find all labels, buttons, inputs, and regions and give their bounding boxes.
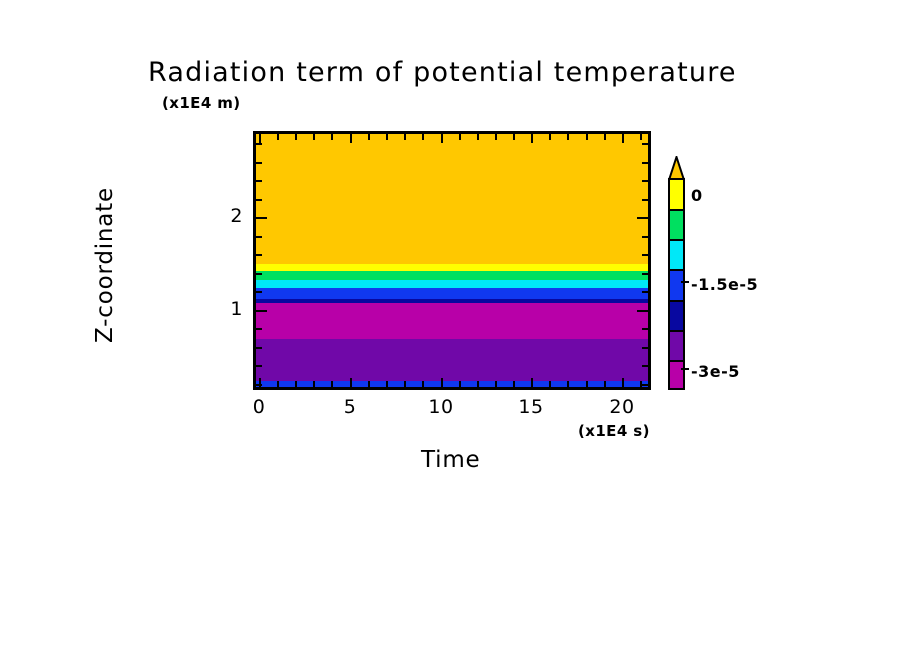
colorbar-divider-6 — [670, 360, 683, 362]
colorbar-tick-mark-1 — [681, 281, 689, 283]
y-axis-title: Z-coordinate — [92, 135, 118, 395]
y-tick-left-3 — [256, 199, 262, 201]
contour-band-green — [256, 271, 648, 280]
x-tick-bottom-5 — [350, 378, 352, 387]
y-tick-left-12 — [256, 365, 262, 367]
y-tick-label-1: 1 — [203, 298, 243, 320]
x-tick-bottom-3 — [313, 381, 315, 387]
x-tick-bottom-12 — [477, 381, 479, 387]
y-tick-left-7 — [256, 273, 262, 275]
x-tick-top-11 — [459, 134, 461, 140]
x-tick-bottom-14 — [513, 381, 515, 387]
y-tick-left-5 — [256, 236, 262, 238]
y-tick-label-2: 2 — [203, 205, 243, 227]
x-tick-bottom-20 — [622, 378, 624, 387]
x-tick-label-0: 0 — [229, 396, 289, 418]
figure-canvas: Radiation term of potential temperature … — [0, 0, 904, 654]
colorbar — [668, 178, 685, 390]
page-title: Radiation term of potential temperature — [148, 57, 737, 88]
contour-band-top-gold — [256, 134, 648, 264]
y-tick-right-11 — [642, 347, 648, 349]
y-tick-right-13 — [642, 384, 648, 386]
x-tick-bottom-18 — [586, 381, 588, 387]
x-tick-label-10: 10 — [411, 396, 471, 418]
contour-band-blue — [256, 288, 648, 299]
x-tick-top-21 — [640, 134, 642, 140]
colorbar-segment-navy — [670, 301, 683, 331]
colorbar-segment-cyan — [670, 240, 683, 270]
colorbar-divider-3 — [670, 269, 683, 271]
colorbar-divider-1 — [670, 209, 683, 211]
colorbar-tick-label-0: 0 — [691, 186, 703, 205]
x-tick-bottom-15 — [531, 378, 533, 387]
x-axis-title: Time — [421, 447, 481, 473]
x-tick-bottom-16 — [549, 381, 551, 387]
y-tick-left-13 — [256, 384, 262, 386]
colorbar-tick-label-2: -3e-5 — [691, 362, 740, 381]
colorbar-tick-label-1: -1.5e-5 — [691, 275, 758, 294]
y-tick-left-8 — [256, 291, 262, 293]
x-tick-top-5 — [350, 134, 352, 143]
colorbar-tick-mark-2 — [681, 368, 689, 370]
colorbar-segment-yellow — [670, 180, 683, 210]
x-tick-bottom-6 — [368, 381, 370, 387]
y-tick-right-6 — [642, 254, 648, 256]
colorbar-divider-4 — [670, 300, 683, 302]
x-tick-top-9 — [422, 134, 424, 140]
y-tick-left-2 — [256, 180, 262, 182]
y-tick-right-12 — [642, 365, 648, 367]
x-tick-bottom-9 — [422, 381, 424, 387]
y-tick-right-0 — [642, 143, 648, 145]
x-tick-label-20: 20 — [592, 396, 652, 418]
x-tick-label-15: 15 — [501, 396, 561, 418]
x-tick-bottom-4 — [331, 381, 333, 387]
x-tick-bottom-19 — [604, 381, 606, 387]
colorbar-segment-blue — [670, 270, 683, 301]
x-tick-top-7 — [386, 134, 388, 140]
x-tick-top-15 — [531, 134, 533, 143]
x-tick-bottom-8 — [404, 381, 406, 387]
y-tick-right-5 — [642, 236, 648, 238]
x-tick-top-17 — [567, 134, 569, 140]
y-tick-right-10 — [642, 328, 648, 330]
x-tick-bottom-7 — [386, 381, 388, 387]
y-tick-left-4 — [256, 217, 267, 219]
y-tick-left-0 — [256, 143, 262, 145]
colorbar-divider-5 — [670, 330, 683, 332]
y-tick-left-6 — [256, 254, 262, 256]
x-tick-top-14 — [513, 134, 515, 140]
contour-band-cyan — [256, 280, 648, 288]
x-tick-top-3 — [313, 134, 315, 140]
contour-plot-area — [253, 131, 651, 390]
contour-band-purple — [256, 339, 648, 381]
x-tick-bottom-13 — [495, 381, 497, 387]
x-tick-bottom-17 — [567, 381, 569, 387]
x-tick-top-13 — [495, 134, 497, 140]
x-tick-top-4 — [331, 134, 333, 140]
contour-bands — [256, 134, 648, 387]
x-tick-bottom-2 — [295, 381, 297, 387]
y-tick-right-4 — [637, 217, 648, 219]
y-tick-left-1 — [256, 162, 262, 164]
x-tick-top-0 — [259, 134, 261, 143]
y-tick-left-11 — [256, 347, 262, 349]
x-tick-top-16 — [549, 134, 551, 140]
x-tick-top-8 — [404, 134, 406, 140]
x-tick-top-20 — [622, 134, 624, 143]
colorbar-segment-purple — [670, 331, 683, 361]
x-tick-top-6 — [368, 134, 370, 140]
colorbar-divider-2 — [670, 239, 683, 241]
y-tick-right-3 — [642, 199, 648, 201]
x-tick-label-5: 5 — [320, 396, 380, 418]
y-tick-right-9 — [637, 310, 648, 312]
y-axis-unit-label: (x1E4 m) — [162, 94, 241, 112]
x-tick-top-1 — [277, 134, 279, 140]
x-tick-bottom-1 — [277, 381, 279, 387]
x-axis-unit-label: (x1E4 s) — [578, 422, 650, 440]
y-tick-right-7 — [642, 273, 648, 275]
colorbar-segment-green — [670, 210, 683, 240]
y-tick-left-10 — [256, 328, 262, 330]
x-tick-top-19 — [604, 134, 606, 140]
contour-band-yellow — [256, 264, 648, 271]
x-tick-top-2 — [295, 134, 297, 140]
x-tick-top-12 — [477, 134, 479, 140]
contour-band-magenta — [256, 303, 648, 339]
x-tick-bottom-10 — [441, 378, 443, 387]
x-tick-top-18 — [586, 134, 588, 140]
x-tick-bottom-11 — [459, 381, 461, 387]
y-tick-right-8 — [642, 291, 648, 293]
x-tick-top-10 — [441, 134, 443, 143]
y-tick-left-9 — [256, 310, 267, 312]
y-tick-right-2 — [642, 180, 648, 182]
colorbar-segment-magenta — [670, 361, 683, 390]
colorbar-arrow-extend-icon — [668, 156, 685, 180]
y-tick-right-1 — [642, 162, 648, 164]
